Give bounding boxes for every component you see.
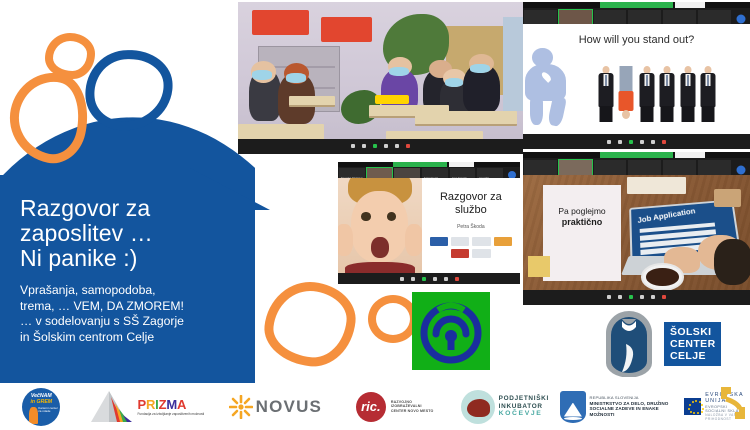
ministry-line3: SOCIALNE ZADEVE IN ENAKE MOŽNOSTI	[590, 406, 684, 417]
slide-logo	[430, 237, 448, 246]
inkubator-bear-icon	[461, 390, 495, 424]
slide-logo	[451, 237, 469, 246]
vecnam-figure-icon	[29, 407, 38, 424]
prizma-wordmark: PRIZMA	[137, 398, 204, 411]
promo-text-block: Razgovor za zaposlitev … Ni panike :) Vp…	[20, 196, 245, 345]
zoom-participants-icon[interactable]	[433, 277, 437, 281]
zoom-leave-button[interactable]	[406, 144, 410, 148]
razgovor-author: Petra Škoda	[428, 224, 514, 230]
classroom-scene	[238, 2, 523, 154]
standout-slide: How will you stand out?	[523, 24, 750, 134]
poster-canvas: Razgovor za zaposlitev … Ni panike :) Vp…	[0, 0, 750, 430]
eu-hook-graphic	[718, 385, 748, 421]
logo-podjetniski-inkubator-kocevje: PODJETNIŠKI INKUBATOR KOČEVJE	[450, 383, 560, 430]
sc-celje-line2: CENTER	[670, 338, 716, 350]
child-eye-right	[387, 212, 396, 221]
promo-title-line2: zaposlitev …	[20, 221, 245, 246]
novus-star-icon	[229, 395, 253, 419]
zoom-leave-button[interactable]	[662, 295, 666, 299]
sc-celje-line1: ŠOLSKI	[670, 326, 716, 338]
zoom-chat-icon[interactable]	[651, 140, 655, 144]
praktichno-slide-tile: Nevenka Dimitrovs Nina Jakhovič Saša Dev…	[523, 152, 750, 305]
slide-logo	[472, 249, 490, 258]
zoom-video-icon[interactable]	[618, 140, 622, 144]
zoom-leave-button[interactable]	[662, 140, 666, 144]
child-eye-left	[361, 212, 370, 221]
zoom-video-icon[interactable]	[362, 144, 366, 148]
ric-line3: CENTER NOVO MESTO	[391, 409, 434, 413]
promo-title-line3: Ni panike :)	[20, 246, 245, 271]
razgovor-logo-row	[430, 237, 513, 266]
prizma-subtitle: Fundacija za izboljšanje zaposlitvenih m…	[137, 412, 204, 416]
zoom-toolbar[interactable]	[523, 134, 750, 149]
child-mouth	[371, 237, 389, 258]
slide-logo	[451, 249, 469, 258]
pencil-cup	[714, 189, 741, 208]
orange-ring-icon	[368, 295, 418, 343]
razgovor-text-area: Razgovor za službo Petra Škoda	[422, 178, 520, 273]
zoom-chat-icon[interactable]	[395, 144, 399, 148]
zoom-leave-button[interactable]	[455, 277, 459, 281]
slovenia-crest-icon	[560, 391, 586, 423]
child-hand-left	[338, 224, 353, 256]
sc-celje-line3: CELJE	[670, 350, 716, 362]
child-hand-right	[405, 224, 422, 256]
standout-slide-tile: Nevenka Dimitrovs Nina Jakhovič Saša Dev…	[523, 2, 750, 149]
ric-mark-icon: ric.	[356, 392, 386, 422]
sticky-notes	[528, 256, 551, 277]
slide-logo	[494, 237, 512, 246]
zagorje-mark-icon	[412, 292, 490, 370]
ss-zagorje-logo	[412, 292, 490, 370]
zoom-share-icon[interactable]	[422, 277, 426, 281]
logo-prizma: PRIZMA Fundacija za izboljšanje zaposlit…	[83, 383, 212, 430]
logo-ric-novo-mesto: ric. RAZVOJNO IZOBRAŽEVALNI CENTER NOVO …	[340, 383, 450, 430]
logo-vecnam-in-grem: VečNAM in GREM Karierni center za mlade	[0, 383, 83, 430]
razgovor-slide: Razgovor za službo Petra Škoda	[338, 178, 520, 273]
note-line-2: praktično	[543, 217, 620, 227]
orange-blob-lower-icon	[261, 278, 359, 371]
slide-logo	[472, 237, 490, 246]
zoom-toolbar[interactable]	[338, 273, 520, 284]
note-line-1: Pa poglejmo	[543, 206, 620, 216]
sc-celje-mark-icon	[598, 311, 660, 377]
praktichno-slide: Pa poglejmo praktično Job Application	[523, 175, 750, 291]
zoom-mic-icon[interactable]	[607, 140, 611, 144]
logo-evropska-unija: EVROPSKA UNIJA EVROPSKI SOCIALNI SKLAD N…	[684, 383, 750, 430]
logo-republika-slovenija: REPUBLIKA SLOVENIJA MINISTRSTVO ZA DELO,…	[560, 383, 684, 430]
promo-sub-line3: … v sodelovanju s SŠ Zagorje	[20, 314, 245, 330]
head-graphic	[714, 239, 750, 286]
sc-celje-logo: ŠOLSKI CENTER CELJE	[598, 308, 750, 380]
zoom-participants-icon[interactable]	[640, 140, 644, 144]
inkubator-line3: KOČEVJE	[499, 410, 549, 418]
suit-figure	[639, 66, 655, 122]
suit-figure	[659, 66, 675, 122]
novus-wordmark: NOVUS	[256, 397, 322, 417]
zoom-share-icon[interactable]	[629, 295, 633, 299]
child-shirt	[345, 262, 415, 273]
sponsor-logo-strip: VečNAM in GREM Karierni center za mlade …	[0, 383, 750, 430]
razgovor-title-line2: službo	[428, 204, 514, 217]
upside-down-figure	[618, 66, 634, 122]
classroom-photo-tile	[238, 2, 523, 154]
zoom-video-icon[interactable]	[411, 277, 415, 281]
inkubator-line1: PODJETNIŠKI	[499, 395, 549, 403]
zoom-participants-icon[interactable]	[640, 295, 644, 299]
zoom-mic-icon[interactable]	[400, 277, 404, 281]
note-card: Pa poglejmo praktično	[543, 185, 620, 280]
suit-figure	[598, 66, 614, 122]
slide-title: How will you stand out?	[523, 34, 750, 46]
zoom-chat-icon[interactable]	[444, 277, 448, 281]
eu-flag-icon	[684, 398, 701, 415]
logo-novus: NOVUS	[211, 383, 340, 430]
zoom-mic-icon[interactable]	[351, 144, 355, 148]
suit-figure	[680, 66, 696, 122]
vecnam-line2: in GREM	[22, 399, 60, 405]
coffee-mug	[641, 263, 684, 290]
zoom-toolbar[interactable]	[238, 139, 523, 154]
laptop-title: Job Application	[637, 206, 696, 224]
promo-sub-line1: Vprašanja, samopodoba,	[20, 283, 245, 299]
zoom-video-icon[interactable]	[618, 295, 622, 299]
promo-sub-line4: in Šolskim centrom Celje	[20, 330, 245, 346]
sc-celje-wordmark: ŠOLSKI CENTER CELJE	[664, 322, 721, 366]
zoom-toolbar[interactable]	[523, 290, 750, 305]
promo-sub-line2: trema, … VEM, DA ZMOREM!	[20, 299, 245, 315]
razgovor-slide-tile: Nevenka Dimitrovs Saša Devrik Jana Krami…	[338, 162, 520, 284]
razgovor-title-line1: Razgovor za	[428, 191, 514, 204]
zoom-share-icon[interactable]	[629, 140, 633, 144]
zoom-share-icon[interactable]	[373, 144, 377, 148]
zoom-mic-icon[interactable]	[607, 295, 611, 299]
inkubator-line2: INKUBATOR	[499, 403, 549, 411]
vecnam-line3: Karierni center za mlade	[38, 407, 60, 414]
suit-figure	[700, 66, 716, 122]
surprised-child-photo	[338, 178, 422, 273]
prizma-pyramid-icon	[89, 389, 133, 425]
notebook	[627, 177, 686, 193]
zoom-participants-icon[interactable]	[384, 144, 388, 148]
orange-blob-small-icon	[45, 33, 95, 79]
zoom-chat-icon[interactable]	[651, 295, 655, 299]
